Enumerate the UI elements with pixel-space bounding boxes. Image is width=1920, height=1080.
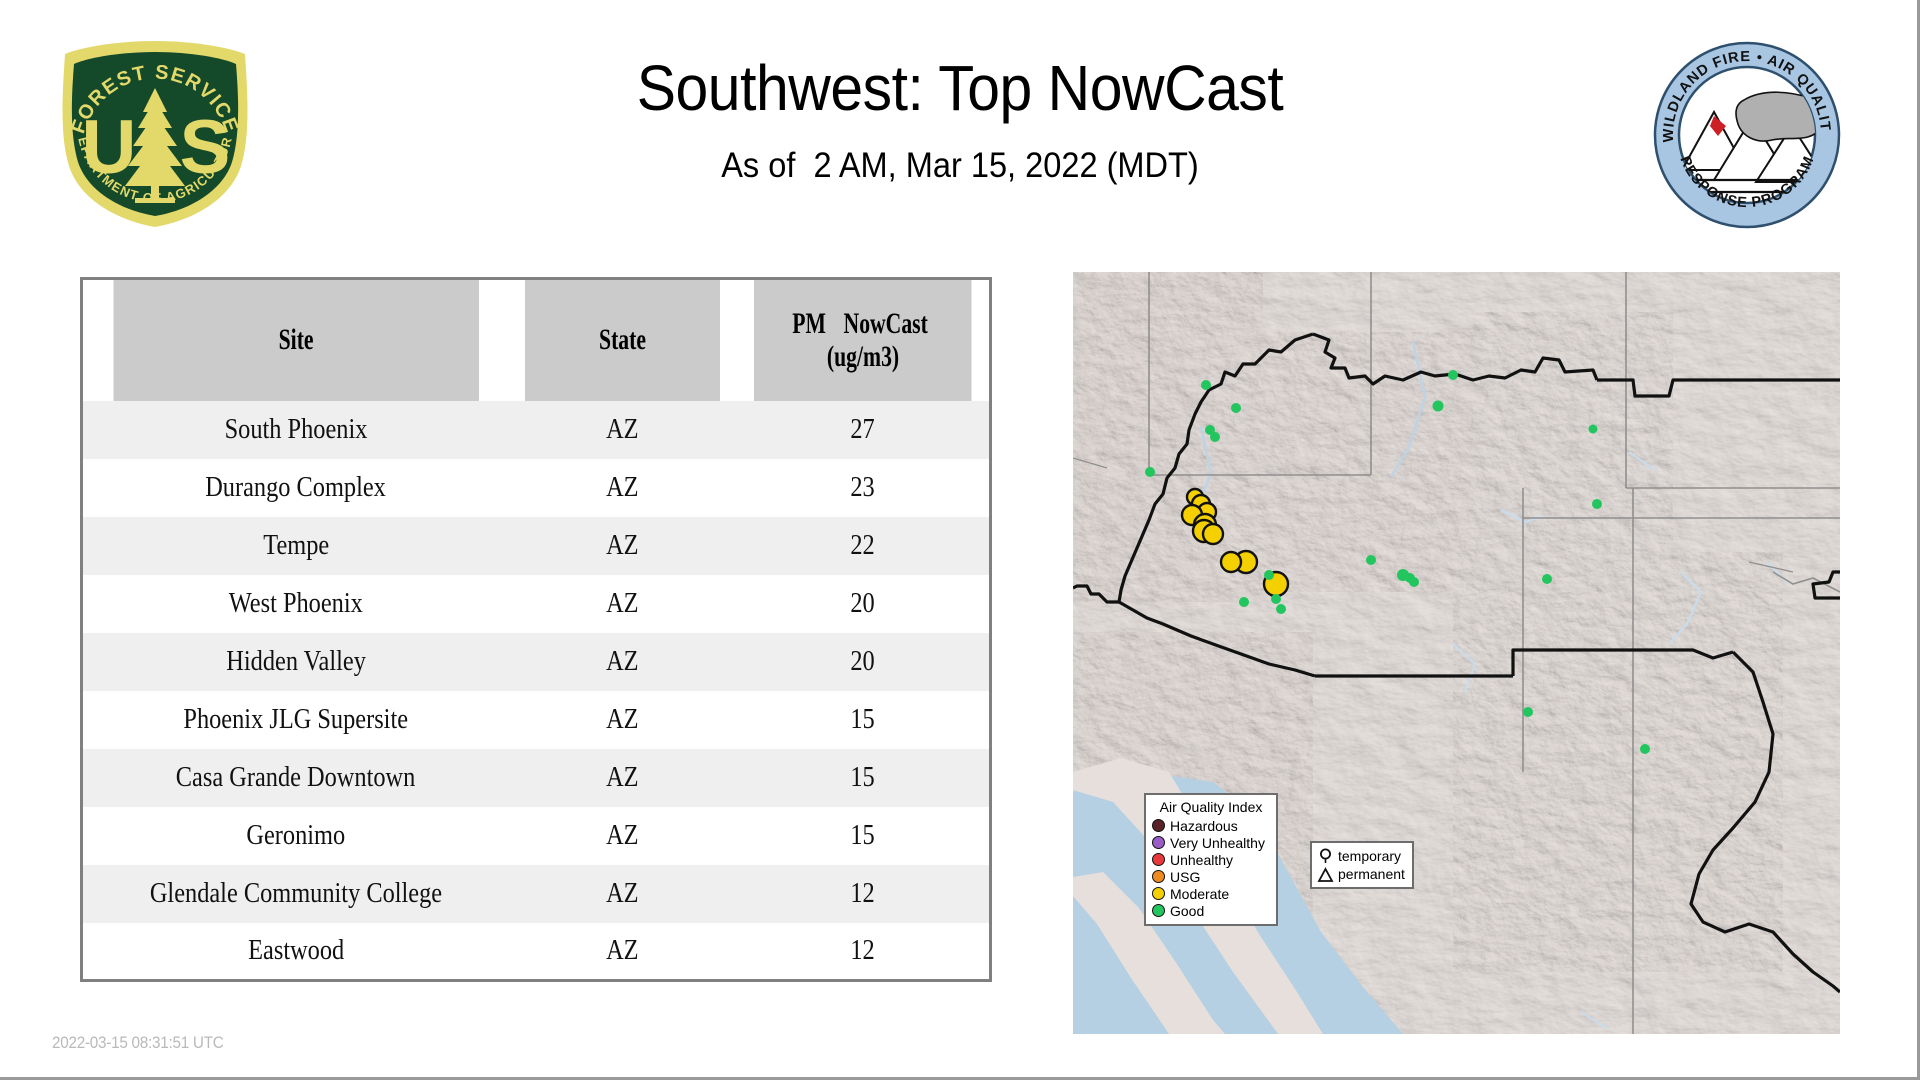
cell-state-text: AZ [606, 587, 638, 620]
cell-site: Tempe [82, 517, 509, 575]
column-header-pm-line3: (ug/m3) [826, 340, 898, 374]
table-row: GeronimoAZ15 [82, 807, 991, 865]
cell-pm-nowcast: 22 [736, 517, 991, 575]
map-site-marker[interactable] [1433, 401, 1444, 412]
column-header-site-label: Site [278, 323, 313, 357]
cell-site: Phoenix JLG Supersite [82, 691, 509, 749]
site-type-label-permanent: permanent [1338, 866, 1405, 882]
temporary-site-icon [1317, 848, 1334, 865]
map-site-marker[interactable] [1640, 744, 1650, 754]
map-site-marker[interactable] [1276, 604, 1286, 614]
table-body: South PhoenixAZ27Durango ComplexAZ23Temp… [82, 401, 991, 981]
aqi-legend-title: Air Quality Index [1152, 799, 1270, 815]
cell-pm-nowcast: 23 [736, 459, 991, 517]
cell-state: AZ [509, 575, 736, 633]
cell-pm-nowcast: 15 [736, 691, 991, 749]
cell-site-text: Hidden Valley [226, 645, 366, 678]
map-site-marker[interactable] [1221, 552, 1241, 572]
aqi-legend-label: Unhealthy [1170, 853, 1233, 867]
aqi-legend-row: Unhealthy [1152, 851, 1270, 868]
cell-state: AZ [509, 807, 736, 865]
site-type-label-temporary: temporary [1338, 848, 1401, 864]
aqi-legend-rows: HazardousVery UnhealthyUnhealthyUSGModer… [1152, 817, 1270, 919]
column-header-site: Site [111, 279, 478, 401]
column-header-state: State [525, 279, 720, 401]
wfaqrp-logo: WILDLAND FIRE • AIR QUALITY RESPONSE PRO… [1652, 40, 1842, 230]
cell-state: AZ [509, 923, 736, 981]
aqi-legend-label: Very Unhealthy [1170, 836, 1265, 850]
cell-site-text: Phoenix JLG Supersite [184, 703, 409, 736]
cell-site-text: Durango Complex [206, 471, 387, 504]
cell-pm-nowcast: 27 [736, 401, 991, 459]
cell-state-text: AZ [606, 819, 638, 852]
nowcast-table: Site State PM NowCast (ug/m3) South Phoe… [80, 277, 992, 982]
slide-canvas: FOREST SERVICE DEPARTMENT OF AGRICULTURE… [0, 0, 1920, 1080]
cell-site-text: Eastwood [248, 934, 344, 967]
table-row: Hidden ValleyAZ20 [82, 633, 991, 691]
table-row: West PhoenixAZ20 [82, 575, 991, 633]
site-type-legend: temporary permanent [1310, 841, 1414, 889]
map-site-marker[interactable] [1523, 707, 1533, 717]
cell-state: AZ [509, 691, 736, 749]
map-site-marker[interactable] [1542, 574, 1552, 584]
map-site-marker[interactable] [1592, 499, 1602, 509]
map-site-marker[interactable] [1239, 597, 1249, 607]
cell-pm-nowcast: 12 [736, 865, 991, 923]
svg-text:U: U [82, 105, 137, 190]
map-site-marker[interactable] [1589, 425, 1598, 434]
cell-pm-nowcast-text: 20 [850, 645, 874, 678]
table-row: Casa Grande DowntownAZ15 [82, 749, 991, 807]
cell-state-text: AZ [606, 877, 638, 910]
cell-pm-nowcast-text: 20 [850, 587, 874, 620]
aqi-legend-row: Good [1152, 902, 1270, 919]
map-site-marker[interactable] [1205, 425, 1215, 435]
aqi-legend-row: Very Unhealthy [1152, 834, 1270, 851]
cell-state: AZ [509, 401, 736, 459]
cell-pm-nowcast: 12 [736, 923, 991, 981]
cell-state-text: AZ [606, 413, 638, 446]
cell-pm-nowcast: 15 [736, 807, 991, 865]
title-block: Southwest: Top NowCast As of 2 AM, Mar 1… [300, 55, 1620, 186]
cell-site: Casa Grande Downtown [82, 749, 509, 807]
cell-site: Hidden Valley [82, 633, 509, 691]
cell-pm-nowcast-text: 15 [850, 761, 874, 794]
cell-site: Glendale Community College [82, 865, 509, 923]
cell-site-text: Geronimo [246, 819, 345, 852]
column-header-state-label: State [599, 323, 646, 357]
aqi-swatch-icon [1152, 870, 1165, 883]
cell-site-text: Glendale Community College [150, 877, 442, 910]
cell-site: Eastwood [82, 923, 509, 981]
cell-state-text: AZ [606, 645, 638, 678]
map-site-marker[interactable] [1145, 467, 1155, 477]
cell-pm-nowcast-text: 12 [850, 934, 874, 967]
cell-state: AZ [509, 865, 736, 923]
aqi-legend-label: Moderate [1170, 887, 1229, 901]
cell-site-text: Casa Grande Downtown [176, 761, 415, 794]
page-subtitle: As of 2 AM, Mar 15, 2022 (MDT) [346, 146, 1574, 186]
aqi-swatch-icon [1152, 853, 1165, 866]
table-row: Glendale Community CollegeAZ12 [82, 865, 991, 923]
cell-state: AZ [509, 633, 736, 691]
cell-state-text: AZ [606, 761, 638, 794]
cell-pm-nowcast: 20 [736, 575, 991, 633]
map-site-marker[interactable] [1203, 524, 1223, 544]
cell-site: Geronimo [82, 807, 509, 865]
cell-pm-nowcast-text: 12 [850, 877, 874, 910]
svg-text:S: S [180, 105, 231, 190]
aqi-legend-label: Hazardous [1170, 819, 1238, 833]
cell-site: Durango Complex [82, 459, 509, 517]
cell-site-text: West Phoenix [229, 587, 363, 620]
cell-site-text: Tempe [263, 529, 329, 562]
table-row: South PhoenixAZ27 [82, 401, 991, 459]
cell-site: South Phoenix [82, 401, 509, 459]
aqi-legend-row: Moderate [1152, 885, 1270, 902]
table-row: EastwoodAZ12 [82, 923, 991, 981]
page-title: Southwest: Top NowCast [353, 55, 1567, 122]
aqi-legend-label: USG [1170, 870, 1200, 884]
cell-state-text: AZ [606, 529, 638, 562]
cell-site-text: South Phoenix [224, 413, 367, 446]
cell-pm-nowcast-text: 15 [850, 819, 874, 852]
cell-site: West Phoenix [82, 575, 509, 633]
cell-state: AZ [509, 517, 736, 575]
cell-state-text: AZ [606, 934, 638, 967]
cell-state: AZ [509, 459, 736, 517]
site-type-row-permanent: permanent [1317, 865, 1407, 883]
permanent-site-icon [1317, 866, 1334, 883]
cell-pm-nowcast: 20 [736, 633, 991, 691]
column-header-pm-line2: NowCast [844, 307, 928, 341]
column-header-pm-nowcast: PM NowCast (ug/m3) [754, 279, 973, 401]
site-type-row-temporary: temporary [1317, 847, 1407, 865]
table-row: Durango ComplexAZ23 [82, 459, 991, 517]
cell-pm-nowcast-text: 27 [850, 413, 874, 446]
map-site-marker[interactable] [1201, 380, 1211, 390]
aqi-swatch-icon [1152, 904, 1165, 917]
cell-state: AZ [509, 749, 736, 807]
aqi-legend: Air Quality Index HazardousVery Unhealth… [1144, 793, 1278, 926]
map-site-marker[interactable] [1264, 570, 1274, 580]
column-header-pm-line1: PM [792, 307, 826, 341]
cell-pm-nowcast-text: 22 [850, 529, 874, 562]
table-header: Site State PM NowCast (ug/m3) [82, 279, 991, 401]
nowcast-table-container: Site State PM NowCast (ug/m3) South Phoe… [80, 277, 992, 982]
cell-pm-nowcast-text: 23 [850, 471, 874, 504]
cell-pm-nowcast: 15 [736, 749, 991, 807]
map-site-marker[interactable] [1409, 577, 1419, 587]
cell-state-text: AZ [606, 703, 638, 736]
aqi-legend-row: USG [1152, 868, 1270, 885]
aqi-legend-row: Hazardous [1152, 817, 1270, 834]
aqi-swatch-icon [1152, 836, 1165, 849]
map-site-marker[interactable] [1366, 555, 1376, 565]
aqi-swatch-icon [1152, 887, 1165, 900]
table-row: TempeAZ22 [82, 517, 991, 575]
aqi-legend-label: Good [1170, 904, 1204, 918]
cell-pm-nowcast-text: 15 [850, 703, 874, 736]
cell-state-text: AZ [606, 471, 638, 504]
map-site-marker[interactable] [1271, 594, 1281, 604]
table-header-row: Site State PM NowCast (ug/m3) [82, 279, 991, 401]
usfs-shield-logo: FOREST SERVICE DEPARTMENT OF AGRICULTURE… [55, 38, 255, 230]
aqi-swatch-icon [1152, 819, 1165, 832]
map-site-marker[interactable] [1448, 370, 1458, 380]
footer-timestamp: 2022-03-15 08:31:51 UTC [52, 1033, 224, 1053]
table-row: Phoenix JLG SupersiteAZ15 [82, 691, 991, 749]
map-site-marker[interactable] [1231, 403, 1241, 413]
